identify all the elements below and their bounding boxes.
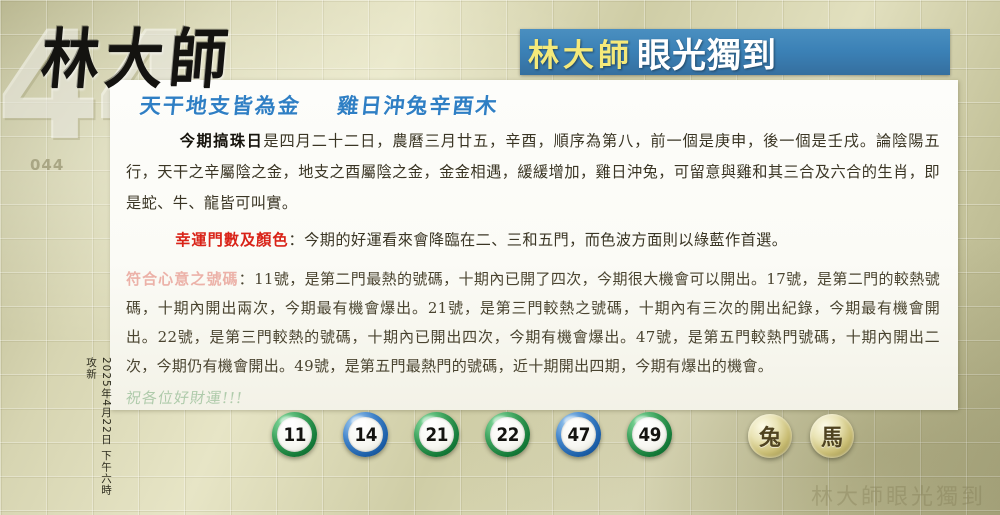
- number-ball[interactable]: 49: [627, 412, 672, 457]
- ball-number: 21: [425, 424, 447, 446]
- issue-number-label: 044: [30, 156, 64, 174]
- ball-number: 11: [283, 424, 305, 446]
- ball-highlight-icon: [422, 416, 438, 426]
- banner-slogan-text: 眼光獨到: [637, 29, 777, 75]
- headline-part-2: 雞日沖兔辛酉木: [336, 93, 500, 118]
- bottom-watermark: 林大師眼光獨到: [811, 479, 986, 511]
- ball-number: 47: [567, 424, 589, 446]
- ball-highlight-icon: [280, 416, 296, 426]
- intro-paragraph: 今期搞珠日是四月二十二日，農曆三月廿五，辛酉，順序為第八，前一個是庚申，後一個是…: [126, 126, 940, 219]
- zodiac-label: 兔: [759, 420, 781, 452]
- number-ball[interactable]: 47: [556, 412, 601, 457]
- ball-highlight-icon: [351, 416, 367, 426]
- publication-date: 2025年4月22日 下午六時攻新: [84, 357, 114, 507]
- zodiac-medallion-horse[interactable]: 馬: [810, 414, 854, 458]
- ball-highlight-icon: [564, 416, 580, 426]
- lucky-text: 今期的好運看來會降臨在二、三和五門，而色波方面則以綠藍作首選。: [304, 231, 787, 249]
- number-ball[interactable]: 14: [343, 412, 388, 457]
- masthead-title: 林大師: [38, 7, 238, 101]
- analysis-colon: ：: [239, 270, 254, 288]
- lucky-label: 幸運門數及顏色: [175, 231, 288, 249]
- lucky-paragraph: 幸運門數及顏色：今期的好運看來會降臨在二、三和五門，而色波方面則以綠藍作首選。: [126, 225, 940, 255]
- number-ball[interactable]: 11: [272, 412, 317, 457]
- ball-number: 49: [638, 424, 660, 446]
- poster-canvas: 44 044 林大師 林大師 眼光獨到 天干地支皆為金 雞日沖兔辛酉木 今期搞珠…: [0, 0, 1000, 515]
- zodiac-medallion-rabbit[interactable]: 兔: [748, 414, 792, 458]
- number-ball[interactable]: 21: [414, 412, 459, 457]
- slogan-banner: 林大師 眼光獨到: [520, 29, 950, 75]
- analysis-label: 符合心意之號碼: [126, 270, 239, 288]
- banner-brand-text: 林大師: [528, 30, 633, 75]
- ball-highlight-icon: [635, 416, 651, 426]
- signature-text: 祝各位好財運!!!: [125, 387, 944, 408]
- number-ball[interactable]: 22: [485, 412, 530, 457]
- ball-highlight-icon: [493, 416, 509, 426]
- lucky-number-balls: 11 14 21 22 47: [272, 412, 672, 457]
- content-panel: 天干地支皆為金 雞日沖兔辛酉木 今期搞珠日是四月二十二日，農曆三月廿五，辛酉，順…: [110, 80, 958, 410]
- analysis-paragraph: 符合心意之號碼：11號，是第二門最熱的號碼，十期內已開了四次，今期很大機會可以開…: [126, 265, 940, 381]
- zodiac-medallions: 兔 馬: [748, 414, 854, 458]
- page-title: 天干地支皆為金 雞日沖兔辛酉木: [138, 90, 943, 120]
- lucky-colon: ：: [289, 231, 305, 249]
- zodiac-label: 馬: [821, 420, 843, 452]
- draw-date-lead: 今期搞珠日: [180, 132, 264, 150]
- ball-number: 22: [496, 424, 518, 446]
- ball-number: 14: [354, 424, 376, 446]
